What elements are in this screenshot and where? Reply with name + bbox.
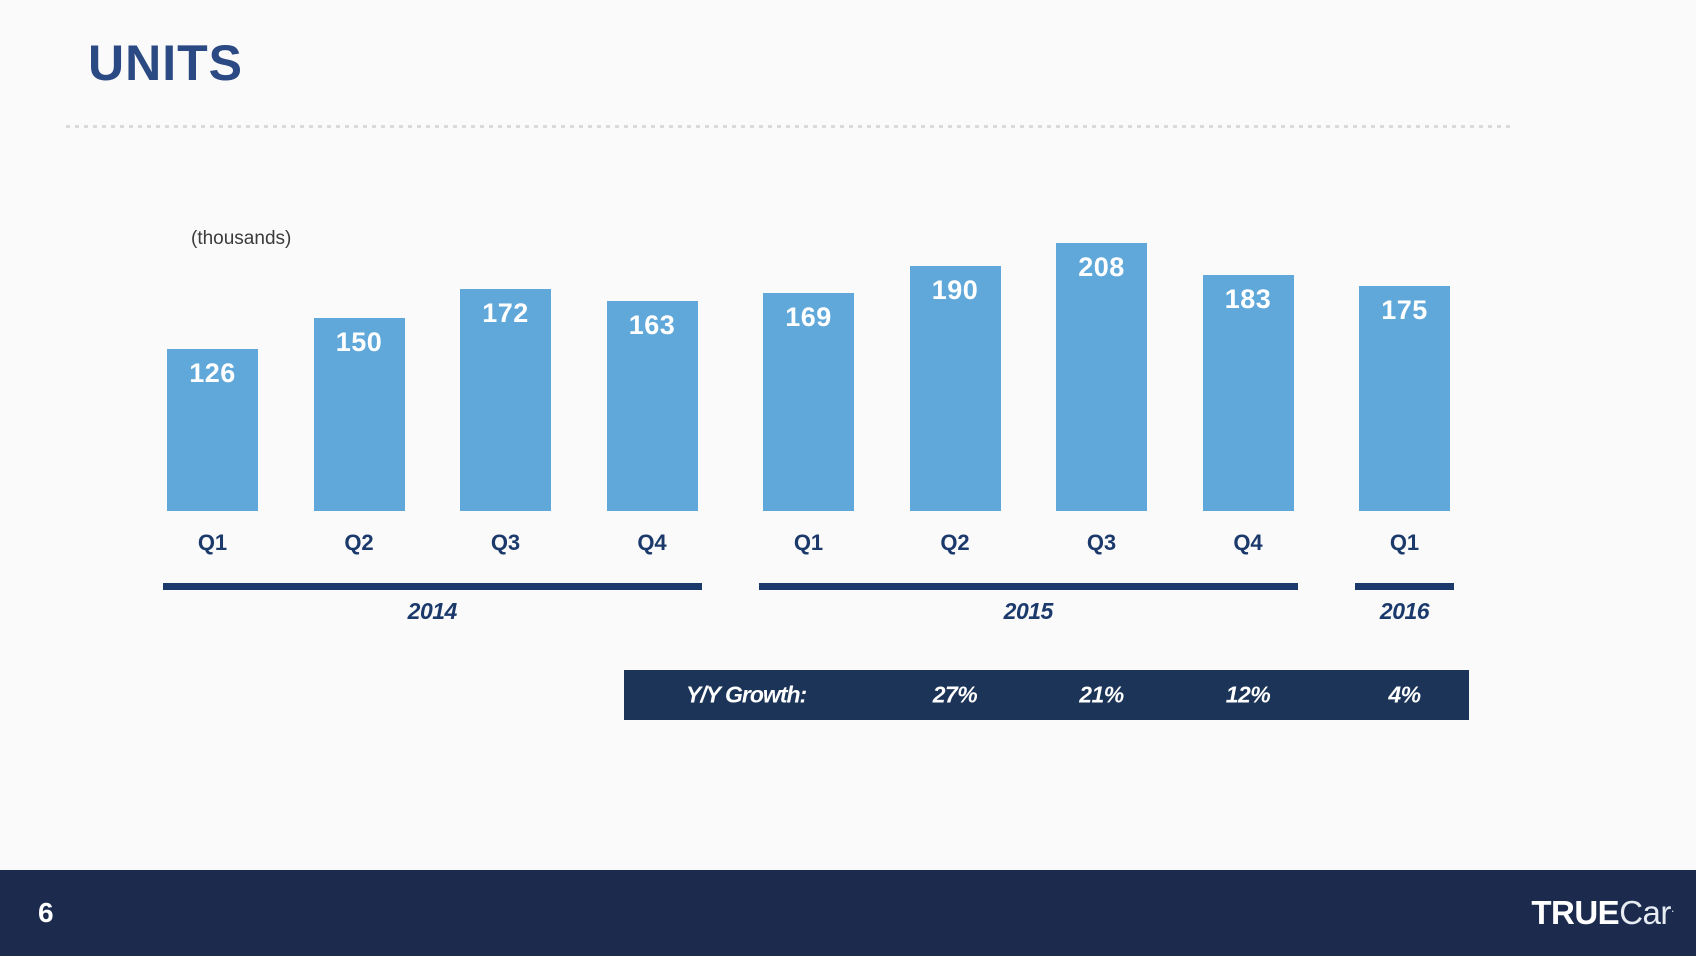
truecar-logo: TRUECar. <box>1531 894 1674 932</box>
logo-trademark-icon: . <box>1671 900 1674 915</box>
bar-2014-Q2: 150 <box>314 318 405 511</box>
year-rule-2016 <box>1355 583 1454 590</box>
slide-root: UNITS (thousands) 1261501721631691902081… <box>0 0 1696 956</box>
quarter-label-2015-Q2: Q2 <box>910 530 1001 556</box>
quarter-label-2014-Q3: Q3 <box>460 530 551 556</box>
growth-value-3: 4% <box>1359 682 1450 709</box>
bar-chart: (thousands) 126150172163169190208183175 … <box>0 0 1696 956</box>
bar-value-label: 150 <box>314 327 405 358</box>
bar-2015-Q3: 208 <box>1056 243 1147 511</box>
quarter-label-2014-Q1: Q1 <box>167 530 258 556</box>
growth-value-0: 27% <box>910 682 1001 709</box>
logo-car-text: Car <box>1619 894 1671 931</box>
quarter-label-2015-Q1: Q1 <box>763 530 854 556</box>
yoy-growth-label: Y/Y Growth: <box>686 682 806 709</box>
quarter-label-2015-Q3: Q3 <box>1056 530 1147 556</box>
bar-2015-Q4: 183 <box>1203 275 1294 511</box>
bar-2016-Q1: 175 <box>1359 286 1450 511</box>
quarter-label-2014-Q2: Q2 <box>314 530 405 556</box>
quarter-label-2014-Q4: Q4 <box>607 530 698 556</box>
bar-value-label: 126 <box>167 358 258 389</box>
year-label-2015: 2015 <box>759 598 1298 625</box>
year-rule-2015 <box>759 583 1298 590</box>
quarter-label-2016-Q1: Q1 <box>1359 530 1450 556</box>
bar-value-label: 183 <box>1203 284 1294 315</box>
quarter-label-2015-Q4: Q4 <box>1203 530 1294 556</box>
bar-value-label: 169 <box>763 302 854 333</box>
growth-value-1: 21% <box>1056 682 1147 709</box>
slide-footer: 6 TRUECar. <box>0 870 1696 956</box>
bar-2014-Q4: 163 <box>607 301 698 511</box>
bar-2014-Q1: 126 <box>167 349 258 511</box>
bar-2015-Q2: 190 <box>910 266 1001 511</box>
year-label-2014: 2014 <box>163 598 702 625</box>
growth-value-2: 12% <box>1203 682 1294 709</box>
bar-value-label: 163 <box>607 310 698 341</box>
page-number: 6 <box>38 897 54 929</box>
units-note: (thousands) <box>191 228 291 250</box>
bar-value-label: 208 <box>1056 252 1147 283</box>
bar-2015-Q1: 169 <box>763 293 854 511</box>
year-label-2016: 2016 <box>1355 598 1454 625</box>
bar-2014-Q3: 172 <box>460 289 551 511</box>
bar-value-label: 190 <box>910 275 1001 306</box>
yoy-growth-band: Y/Y Growth: 27%21%12%4% <box>624 670 1469 720</box>
bar-value-label: 175 <box>1359 295 1450 326</box>
logo-true-text: TRUE <box>1531 894 1619 931</box>
year-rule-2014 <box>163 583 702 590</box>
bar-value-label: 172 <box>460 298 551 329</box>
